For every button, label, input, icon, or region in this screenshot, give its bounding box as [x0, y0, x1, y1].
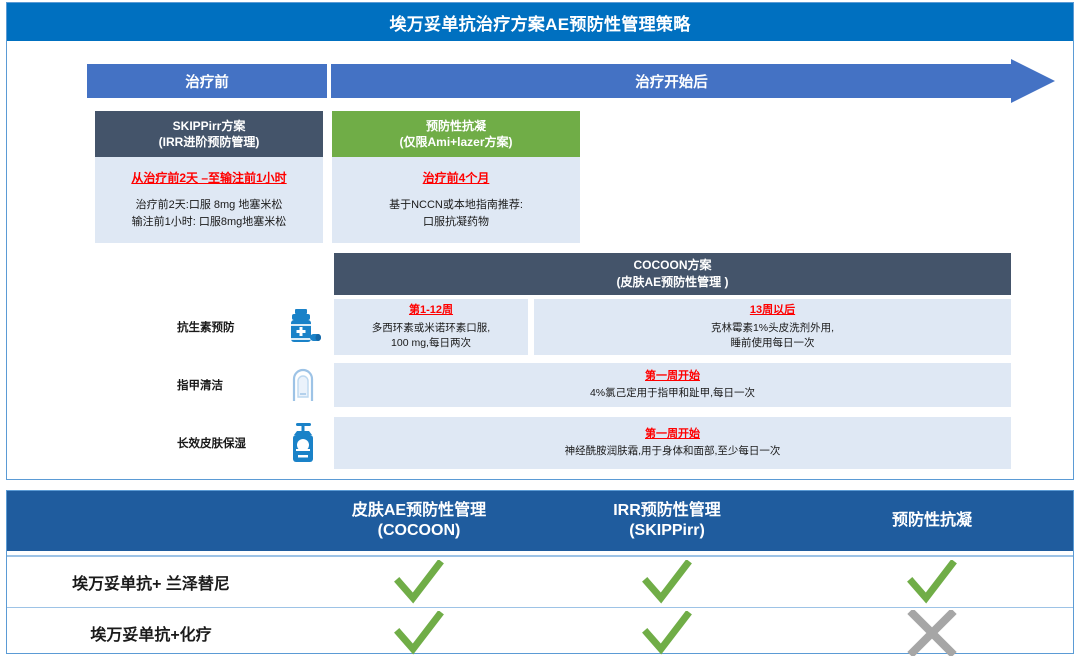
header-line1: 预防性抗凝 [892, 511, 972, 531]
check-icon [791, 560, 1073, 604]
header-cell-regimen [7, 491, 295, 551]
header-line2: (SKIPPirr) [629, 521, 705, 541]
care-cell: 第一周开始 神经酰胺润肤霜,用于身体和面部,至少每日一次 [334, 417, 1011, 469]
fingernail-icon [272, 363, 334, 407]
comparison-table: 皮肤AE预防性管理 (COCOON) IRR预防性管理 (SKIPPirr) 预… [6, 490, 1074, 654]
check-icon [543, 611, 791, 655]
cell-period: 第一周开始 [645, 426, 700, 443]
scheme-body-skippirr: 从治疗前2天 –至输注前1小时 治疗前2天:口服 8mg 地塞米松 输注前1小时… [95, 157, 323, 243]
cocoon-title-line1: COCOON方案 [633, 257, 711, 274]
cell-line2: 100 mg,每日两次 [391, 336, 471, 352]
care-row-skin-moisturizing: 长效皮肤保湿 第一周开始 神经酰胺润肤霜,用于身体和面部,至少每日一次 [177, 417, 1011, 469]
header-cell-cocoon: 皮肤AE预防性管理 (COCOON) [295, 491, 543, 551]
scheme-detail-line1: 基于NCCN或本地指南推荐: [338, 197, 574, 214]
timeline-post-label: 治疗开始后 [635, 71, 708, 92]
row-label: 埃万妥单抗+ 兰泽替尼 [7, 570, 295, 594]
cocoon-header: COCOON方案 (皮肤AE预防性管理 ) [334, 253, 1011, 295]
care-label: 指甲清洁 [177, 363, 272, 407]
care-cell: 第1-12周 多西环素或米诺环素口服, 100 mg,每日两次 [334, 299, 528, 355]
care-cell: 第一周开始 4%氯己定用于指甲和趾甲,每日一次 [334, 363, 1011, 407]
header-line1: 皮肤AE预防性管理 [352, 501, 486, 521]
scheme-card-anticoagulation: 预防性抗凝 (仅限Ami+lazer方案) 治疗前4个月 基于NCCN或本地指南… [332, 111, 580, 243]
strategy-panel: 埃万妥单抗治疗方案AE预防性管理策略 治疗前 治疗开始后 SKIPPirr方案 … [6, 2, 1074, 480]
scheme-card-skippirr: SKIPPirr方案 (IRR进阶预防管理) 从治疗前2天 –至输注前1小时 治… [95, 111, 323, 243]
timeline-arrow: 治疗前 治疗开始后 [87, 59, 1055, 103]
lotion-pump-icon [272, 417, 334, 469]
care-label: 长效皮肤保湿 [177, 417, 272, 469]
scheme-period: 治疗前4个月 [338, 169, 574, 188]
medicine-bottle-icon [272, 299, 334, 355]
scheme-header-skippirr: SKIPPirr方案 (IRR进阶预防管理) [95, 111, 323, 157]
scheme-header-anticoagulation: 预防性抗凝 (仅限Ami+lazer方案) [332, 111, 580, 157]
row-label: 埃万妥单抗+化疗 [7, 621, 295, 645]
care-row-nail-hygiene: 指甲清洁 第一周开始 4%氯己定用于指甲和趾甲,每日一次 [177, 363, 1011, 407]
scheme-title-line1: 预防性抗凝 [426, 118, 486, 134]
timeline-segment-pre: 治疗前 [87, 64, 329, 98]
scheme-title-line1: SKIPPirr方案 [173, 118, 246, 134]
scheme-body-anticoagulation: 治疗前4个月 基于NCCN或本地指南推荐: 口服抗凝药物 [332, 157, 580, 243]
page-title: 埃万妥单抗治疗方案AE预防性管理策略 [7, 3, 1073, 41]
care-cell: 13周以后 克林霉素1%头皮洗剂外用, 睡前使用每日一次 [534, 299, 1011, 355]
care-cells: 第一周开始 4%氯己定用于指甲和趾甲,每日一次 [334, 363, 1011, 407]
cell-line1: 多西环素或米诺环素口服, [372, 321, 490, 337]
scheme-detail-line1: 治疗前2天:口服 8mg 地塞米松 [101, 197, 317, 214]
arrow-head-icon [1011, 59, 1055, 103]
timeline-pre-label: 治疗前 [185, 71, 229, 92]
scheme-detail-line2: 口服抗凝药物 [338, 214, 574, 231]
check-icon [295, 611, 543, 655]
cell-period: 13周以后 [750, 302, 795, 319]
comparison-table-header-row: 皮肤AE预防性管理 (COCOON) IRR预防性管理 (SKIPPirr) 预… [7, 491, 1073, 551]
header-cell-skippirr: IRR预防性管理 (SKIPPirr) [543, 491, 791, 551]
table-row: 埃万妥单抗+化疗 [7, 607, 1073, 658]
header-line1: IRR预防性管理 [613, 501, 721, 521]
care-cells: 第1-12周 多西环素或米诺环素口服, 100 mg,每日两次 13周以后 克林… [334, 299, 1011, 355]
cocoon-title-line2: (皮肤AE预防性管理 ) [617, 274, 729, 291]
header-cell-anticoagulation: 预防性抗凝 [791, 491, 1073, 551]
cell-period: 第1-12周 [409, 302, 453, 319]
cell-period: 第一周开始 [645, 368, 700, 385]
timeline-segment-post: 治疗开始后 [331, 64, 1012, 98]
cross-icon [791, 610, 1073, 656]
care-cells: 第一周开始 神经酰胺润肤霜,用于身体和面部,至少每日一次 [334, 417, 1011, 469]
care-label: 抗生素预防 [177, 299, 272, 355]
cell-line1: 神经酰胺润肤霜,用于身体和面部,至少每日一次 [565, 444, 781, 460]
cell-line1: 克林霉素1%头皮洗剂外用, [711, 321, 834, 337]
table-row: 埃万妥单抗+ 兰泽替尼 [7, 556, 1073, 607]
care-row-antibiotics: 抗生素预防 第1-12周 多西环素或米诺环素口服, 100 mg,每日两次 [177, 299, 1011, 355]
cell-line2: 睡前使用每日一次 [731, 336, 815, 352]
scheme-title-line2: (仅限Ami+lazer方案) [399, 134, 512, 150]
header-line2: (COCOON) [378, 521, 461, 541]
cell-line1: 4%氯己定用于指甲和趾甲,每日一次 [590, 386, 755, 402]
check-icon [543, 560, 791, 604]
scheme-detail-line2: 输注前1小时: 口服8mg地塞米松 [101, 214, 317, 231]
scheme-title-line2: (IRR进阶预防管理) [159, 134, 260, 150]
check-icon [295, 560, 543, 604]
scheme-period: 从治疗前2天 –至输注前1小时 [101, 169, 317, 188]
